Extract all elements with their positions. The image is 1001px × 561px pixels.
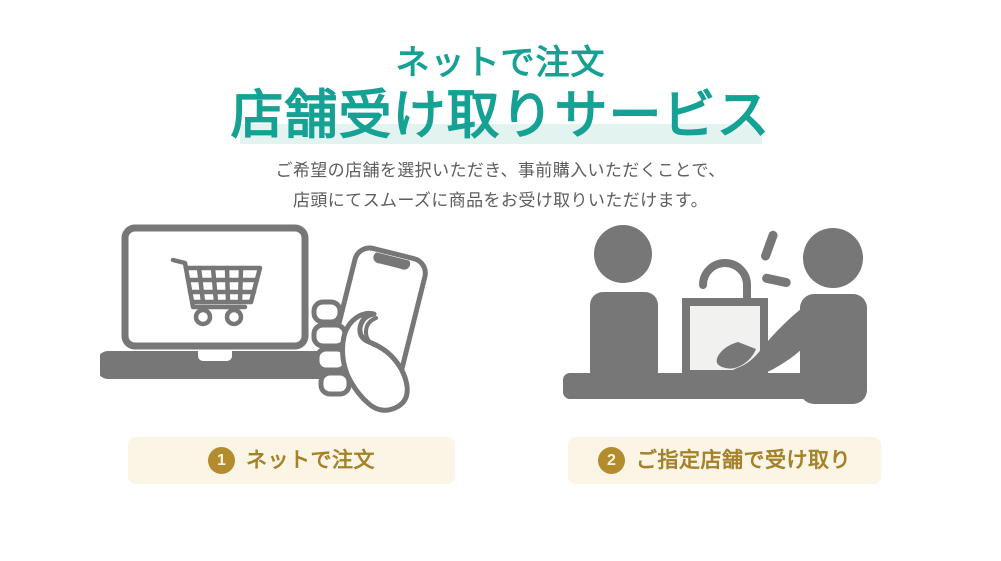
laptop-base — [100, 351, 333, 379]
store-pickup-service-banner: ネットで注文 店舗受け取りサービス ご希望の店舗を選択いただき、事前購入いただく… — [0, 0, 1001, 561]
page-title: 店舗受け取りサービス — [0, 88, 1001, 144]
motion-line-2 — [761, 273, 791, 288]
customer-head — [803, 228, 863, 288]
eyebrow-heading: ネットで注文 — [0, 46, 1001, 80]
staff-body — [590, 292, 658, 384]
step-2-label: ご指定店舗で受け取り — [636, 450, 851, 471]
motion-lines — [760, 230, 792, 288]
subtitle: ご希望の店舗を選択いただき、事前購入いただくことで、 店頭にてスムーズに商品をお… — [0, 156, 1001, 217]
store-pickup-illustration — [555, 218, 905, 423]
subtitle-line-1: ご希望の店舗を選択いただき、事前購入いただくことで、 — [0, 156, 1001, 186]
step-1-label: ネットで注文 — [246, 450, 375, 471]
title-block: 店舗受け取りサービス — [0, 88, 1001, 146]
subtitle-line-2: 店頭にてスムーズに商品をお受け取りいただけます。 — [0, 186, 1001, 216]
step-pill-2[interactable]: 2 ご指定店舗で受け取り — [568, 437, 881, 484]
bag-handle — [703, 263, 747, 301]
step-2-number-badge: 2 — [598, 447, 625, 474]
step-1-number-badge: 1 — [208, 447, 235, 474]
motion-line-1 — [760, 230, 779, 262]
hand-holding-smartphone-icon — [314, 245, 428, 410]
staff-head — [594, 225, 652, 283]
online-order-illustration — [100, 222, 480, 422]
step-pill-1[interactable]: 1 ネットで注文 — [128, 437, 455, 484]
online-order-svg — [100, 222, 480, 422]
store-pickup-svg — [555, 218, 905, 423]
staff-figure — [590, 225, 658, 384]
